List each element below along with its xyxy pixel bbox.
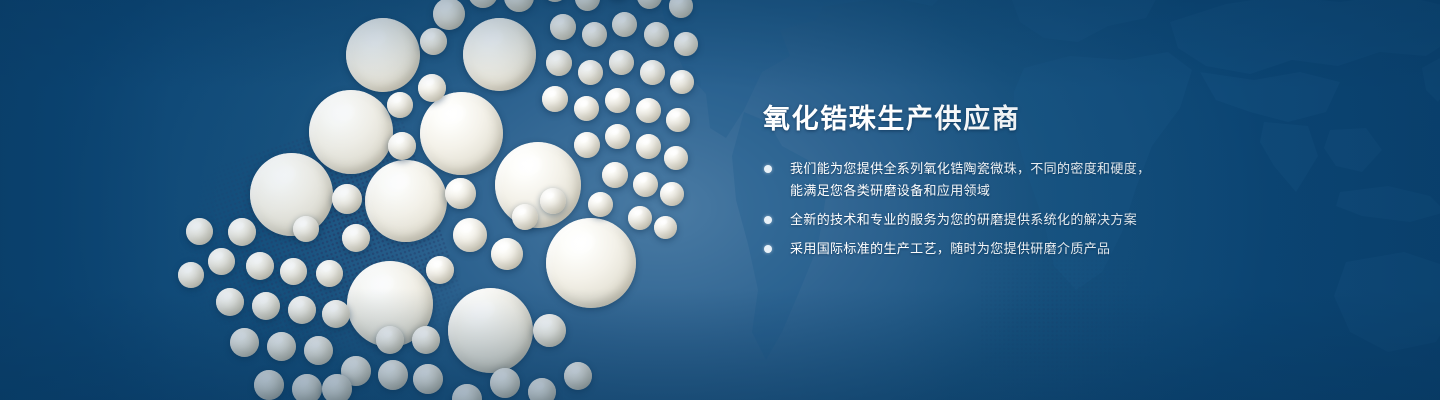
- background-vignette: [0, 0, 1440, 400]
- hero-banner: 氧化锆珠生产供应商 我们能为您提供全系列氧化锆陶瓷微珠，不同的密度和硬度， 能满…: [0, 0, 1440, 400]
